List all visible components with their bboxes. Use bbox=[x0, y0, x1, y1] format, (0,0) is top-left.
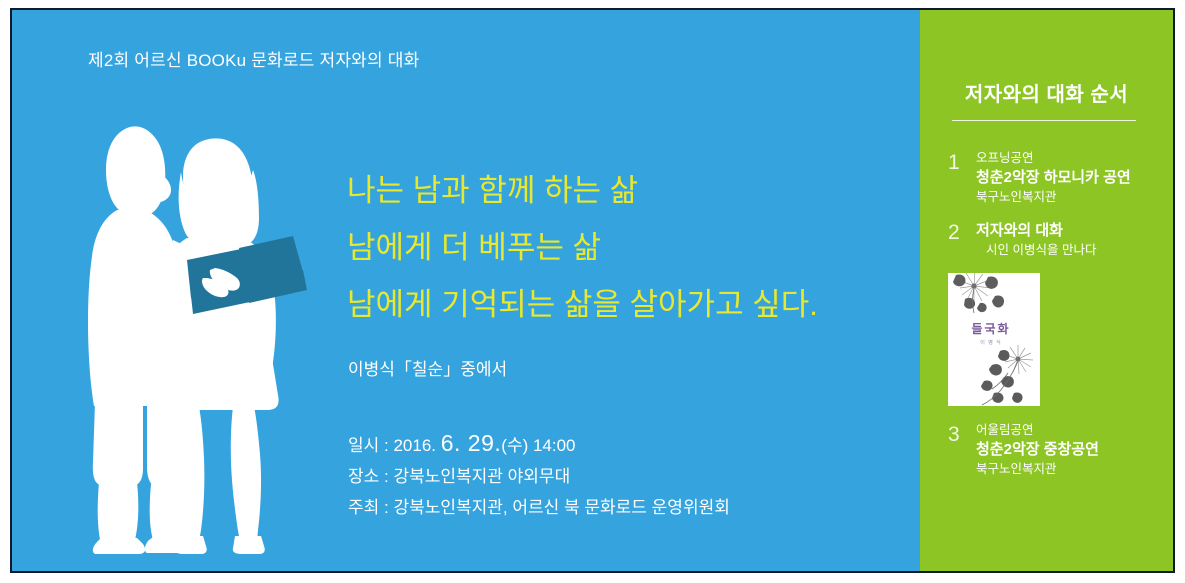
event-details: 일시 : 2016. 6. 29.(수) 14:00 장소 : 강북노인복지관 … bbox=[348, 428, 730, 523]
program-number-1: 1 bbox=[948, 152, 960, 173]
sidebar-title: 저자와의 대화 순서 bbox=[920, 78, 1173, 107]
program-item-1: 1 오프닝공연 청춘2악장 하모니카 공연 북구노인복지관 bbox=[920, 150, 1173, 206]
program-list: 1 오프닝공연 청춘2악장 하모니카 공연 북구노인복지관 2 저자와의 대화 … bbox=[920, 150, 1173, 492]
program-label-3: 어울림공연 bbox=[976, 422, 1161, 439]
headline-line-1: 나는 남과 함께 하는 삶 bbox=[347, 162, 887, 219]
program-title-2: 저자와의 대화 bbox=[976, 220, 1161, 241]
program-title-1: 청춘2악장 하모니카 공연 bbox=[976, 167, 1161, 188]
program-item-3: 3 어울림공연 청춘2악장 중창공연 북구노인복지관 bbox=[920, 422, 1173, 478]
left-blue-panel: 제2회 어르신 BOOKu 문화로드 저자와의 대화 bbox=[12, 10, 920, 571]
detail-date-label: 일시 : 2016. bbox=[348, 436, 436, 455]
book-cover-author: 이 병 식 bbox=[948, 339, 1034, 346]
program-number-2: 2 bbox=[948, 222, 960, 243]
headline-block: 나는 남과 함께 하는 삶 남에게 더 베푸는 삶 남에게 기억되는 삶을 살아… bbox=[347, 162, 887, 333]
poster-root: 제2회 어르신 BOOKu 문화로드 저자와의 대화 bbox=[0, 0, 1185, 583]
detail-host: 주최 : 강북노인복지관, 어르신 북 문화로드 운영위원회 bbox=[348, 492, 730, 523]
program-number-3: 3 bbox=[948, 424, 960, 445]
program-venue-3: 북구노인복지관 bbox=[976, 460, 1161, 478]
attribution-text: 이병식「칠순」중에서 bbox=[348, 355, 507, 380]
program-title-3: 청춘2악장 중창공연 bbox=[976, 439, 1161, 460]
program-venue-1: 북구노인복지관 bbox=[976, 188, 1161, 206]
headline-line-3: 남에게 기억되는 삶을 살아가고 싶다. bbox=[347, 276, 887, 333]
poster-frame: 제2회 어르신 BOOKu 문화로드 저자와의 대화 bbox=[10, 8, 1175, 573]
program-label-1: 오프닝공연 bbox=[976, 150, 1161, 167]
program-sub-2: 시인 이병식을 만나다 bbox=[976, 241, 1161, 259]
program-item-2: 2 저자와의 대화 시인 이병식을 만나다 bbox=[920, 220, 1173, 259]
right-green-panel: 저자와의 대화 순서 1 오프닝공연 청춘2악장 하모니카 공연 북구노인복지관… bbox=[920, 10, 1173, 571]
book-cover-title: 들국화 bbox=[948, 320, 1034, 337]
sidebar-divider bbox=[952, 120, 1136, 121]
book-cover-thumbnail: 들국화 이 병 식 bbox=[948, 273, 1040, 406]
headline-line-2: 남에게 더 베푸는 삶 bbox=[347, 219, 887, 276]
detail-date: 일시 : 2016. 6. 29.(수) 14:00 bbox=[348, 428, 730, 461]
poster-kicker: 제2회 어르신 BOOKu 문화로드 저자와의 대화 bbox=[88, 46, 419, 71]
silhouette-illustration bbox=[87, 110, 337, 555]
detail-place: 장소 : 강북노인복지관 야외무대 bbox=[348, 461, 730, 492]
detail-date-big: 6. 29. bbox=[441, 430, 502, 456]
detail-date-rest: (수) 14:00 bbox=[501, 436, 575, 455]
